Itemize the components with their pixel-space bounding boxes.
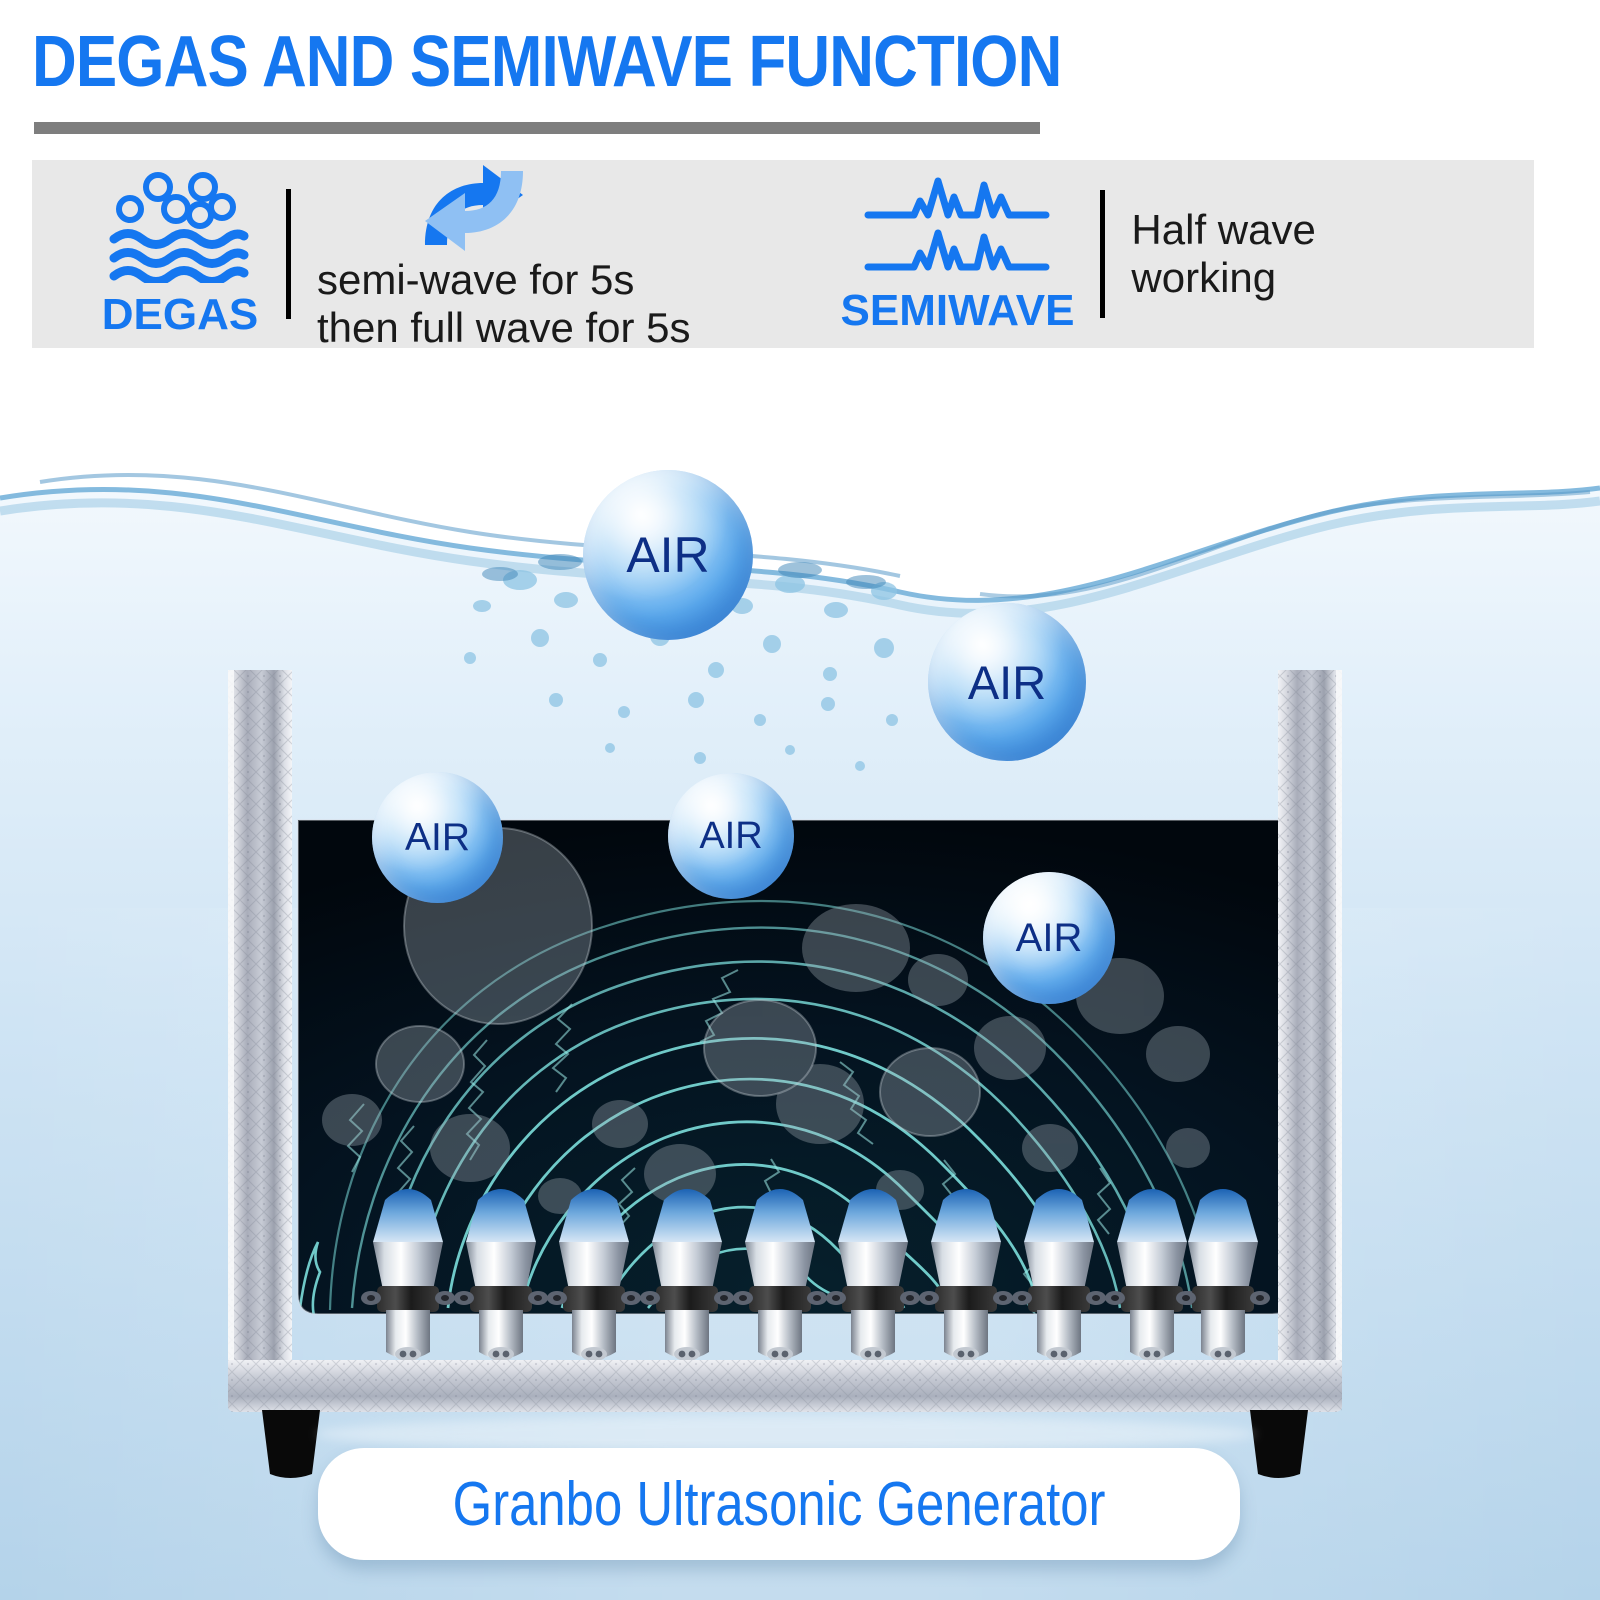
water-and-tank-illustration (0, 348, 1600, 1600)
feature-bar: DEGAS semi-wave for 5s then full wave fo… (32, 160, 1534, 348)
degas-detail-line2: then full wave for 5s (317, 304, 691, 352)
caption-text: Granbo Ultrasonic Generator (453, 1469, 1106, 1540)
air-bubble-label: AIR (968, 655, 1046, 710)
air-bubble-label: AIR (626, 526, 709, 584)
semiwave-detail-line2: working (1131, 254, 1315, 302)
illustration-scene: AIR AIR AIR AIR AIR Granbo Ultrasonic Ge… (0, 348, 1600, 1600)
page-title: DEGAS AND SEMIWAVE FUNCTION (32, 24, 944, 100)
semiwave-badge: SEMIWAVE (841, 175, 1075, 334)
semiwave-detail-text: Half wave working (1131, 206, 1315, 302)
semiwave-label: SEMIWAVE (841, 288, 1075, 334)
feature-degas: DEGAS semi-wave for 5s then full wave fo… (100, 160, 691, 348)
air-bubble-label: AIR (405, 816, 470, 860)
degas-label: DEGAS (102, 292, 258, 338)
degas-detail-line1: semi-wave for 5s (317, 256, 634, 303)
tank-base (228, 1360, 1342, 1412)
degas-detail: semi-wave for 5s then full wave for 5s (317, 157, 691, 352)
degas-divider (286, 189, 291, 319)
tank-left-wall (228, 670, 292, 1370)
degas-badge: DEGAS (100, 171, 260, 338)
tank-right-wall (1278, 670, 1342, 1370)
air-bubble-label: AIR (1016, 916, 1083, 961)
semiwave-detail-line1: Half wave (1131, 206, 1315, 253)
air-bubble: AIR (928, 603, 1086, 761)
cycle-arrows-icon (413, 157, 535, 262)
semiwave-divider (1100, 190, 1105, 318)
air-bubble: AIR (668, 773, 794, 899)
page-title-wrap: DEGAS AND SEMIWAVE FUNCTION (32, 24, 1092, 134)
air-bubble-label: AIR (699, 815, 762, 858)
pulse-waveform-icon (862, 175, 1052, 284)
tank-foot-left (262, 1410, 320, 1478)
bubbles-over-waves-icon (100, 171, 260, 288)
infographic-root: DEGAS AND SEMIWAVE FUNCTION (0, 0, 1600, 1600)
degas-detail-text: semi-wave for 5s then full wave for 5s (317, 256, 691, 352)
air-bubble: AIR (372, 772, 503, 903)
air-bubble: AIR (983, 872, 1115, 1004)
tank-reflection (316, 1416, 1256, 1452)
air-bubble: AIR (583, 470, 753, 640)
tank-foot-right (1250, 1410, 1308, 1478)
caption-pill: Granbo Ultrasonic Generator (318, 1448, 1240, 1560)
title-underline-rule (34, 122, 1040, 134)
feature-semiwave: SEMIWAVE Half wave working (841, 160, 1316, 348)
